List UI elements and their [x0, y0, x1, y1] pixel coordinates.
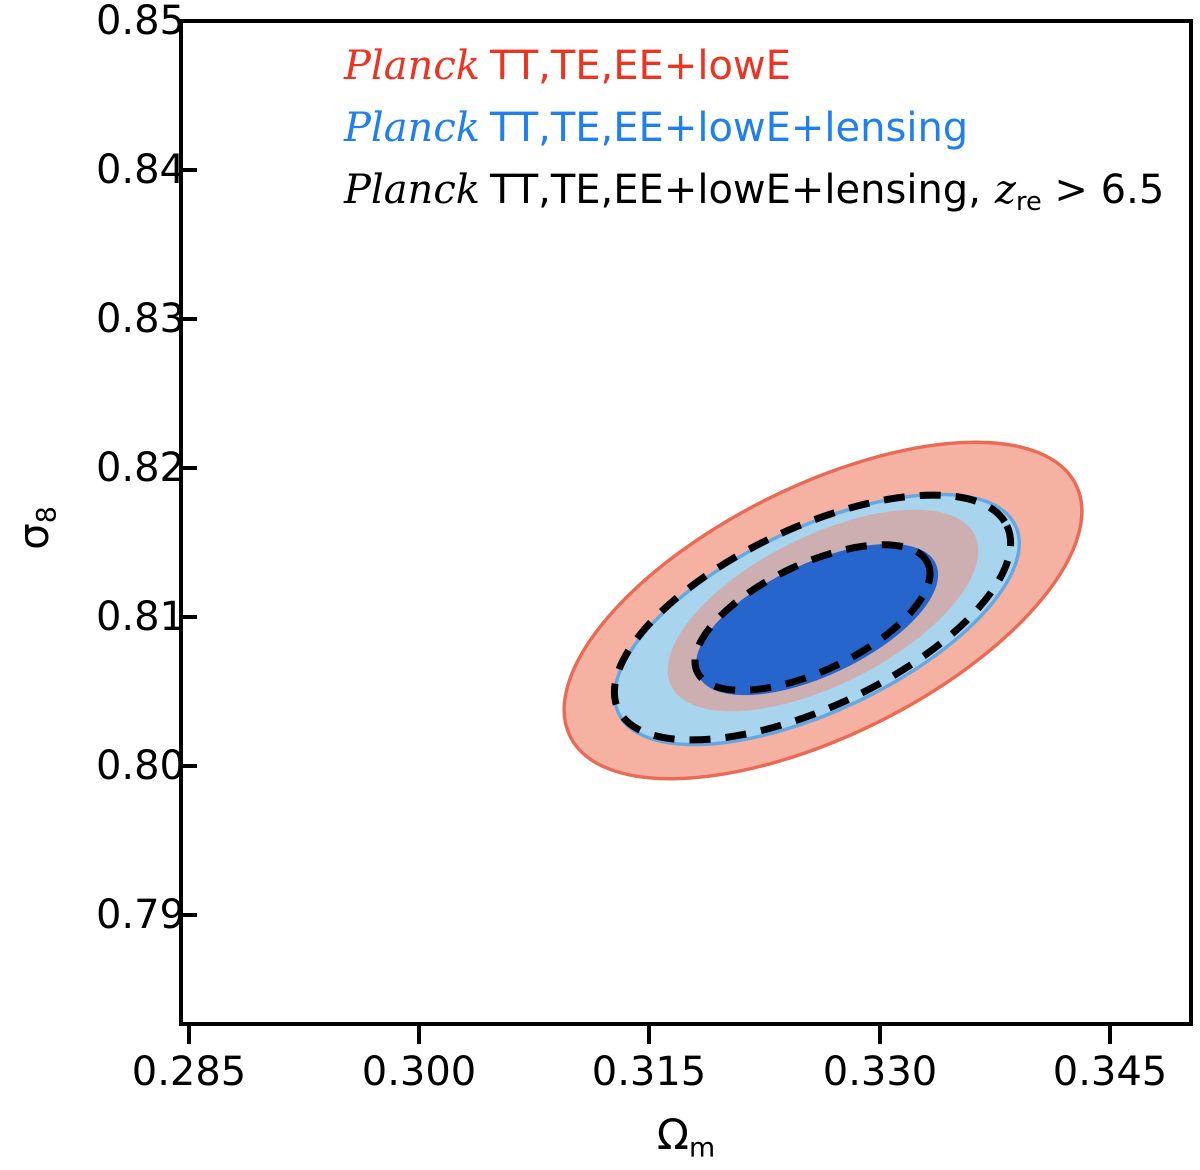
ticklabel-y-6: 0.79 [96, 895, 185, 935]
y-axis-label-symbol: σ [9, 523, 58, 550]
tick-x-0 [187, 1026, 191, 1044]
legend-entry-2: PlanckTT,TE,EE+lowE+lensing,zre > 6.5 [344, 162, 1184, 230]
legend-label-2: TT,TE,EE+lowE+lensing, [490, 167, 981, 213]
tick-x-4 [1108, 1026, 1112, 1044]
figure-root: 0.285 0.300 0.315 0.330 0.345 0.85 0.84 … [0, 0, 1200, 1170]
y-axis-label-subscript: 8 [32, 506, 63, 523]
legend: PlanckTT,TE,EE+lowE PlanckTT,TE,EE+lowE+… [344, 38, 1184, 236]
ticklabel-x-3: 0.330 [823, 1052, 938, 1092]
legend-label-0: TT,TE,EE+lowE [490, 43, 791, 89]
legend-source-0: Planck [344, 43, 490, 89]
tick-x-3 [878, 1026, 882, 1044]
ticklabel-x-4: 0.345 [1053, 1052, 1168, 1092]
ticklabel-x-0: 0.285 [132, 1052, 247, 1092]
ticklabel-y-3: 0.82 [96, 448, 185, 488]
ticklabel-y-4: 0.81 [96, 597, 185, 637]
legend-entry-0: PlanckTT,TE,EE+lowE [344, 38, 1184, 94]
legend-label-1: TT,TE,EE+lowE+lensing [490, 105, 968, 151]
ticklabel-y-1: 0.84 [96, 150, 185, 190]
legend-zre-threshold-2: > 6.5 [1042, 167, 1165, 213]
ticklabel-x-1: 0.300 [362, 1052, 477, 1092]
legend-zre-subscript-2: re [1016, 187, 1042, 217]
legend-source-1: Planck [344, 105, 490, 151]
x-axis-label-symbol: Ω [657, 1110, 689, 1159]
x-axis-label: Ωm [657, 1110, 715, 1164]
ticklabel-y-0: 0.85 [96, 1, 185, 41]
y-axis-label: σ8 [9, 506, 63, 550]
legend-entry-1: PlanckTT,TE,EE+lowE+lensing [344, 100, 1184, 156]
tick-x-1 [417, 1026, 421, 1044]
tick-x-2 [647, 1026, 651, 1044]
ticklabel-x-2: 0.315 [592, 1052, 707, 1092]
legend-zre-symbol-2: z [981, 167, 1016, 213]
legend-source-2: Planck [344, 167, 490, 213]
x-axis-label-subscript: m [689, 1133, 715, 1164]
ticklabel-y-5: 0.80 [96, 746, 185, 786]
ticklabel-y-2: 0.83 [96, 299, 185, 339]
